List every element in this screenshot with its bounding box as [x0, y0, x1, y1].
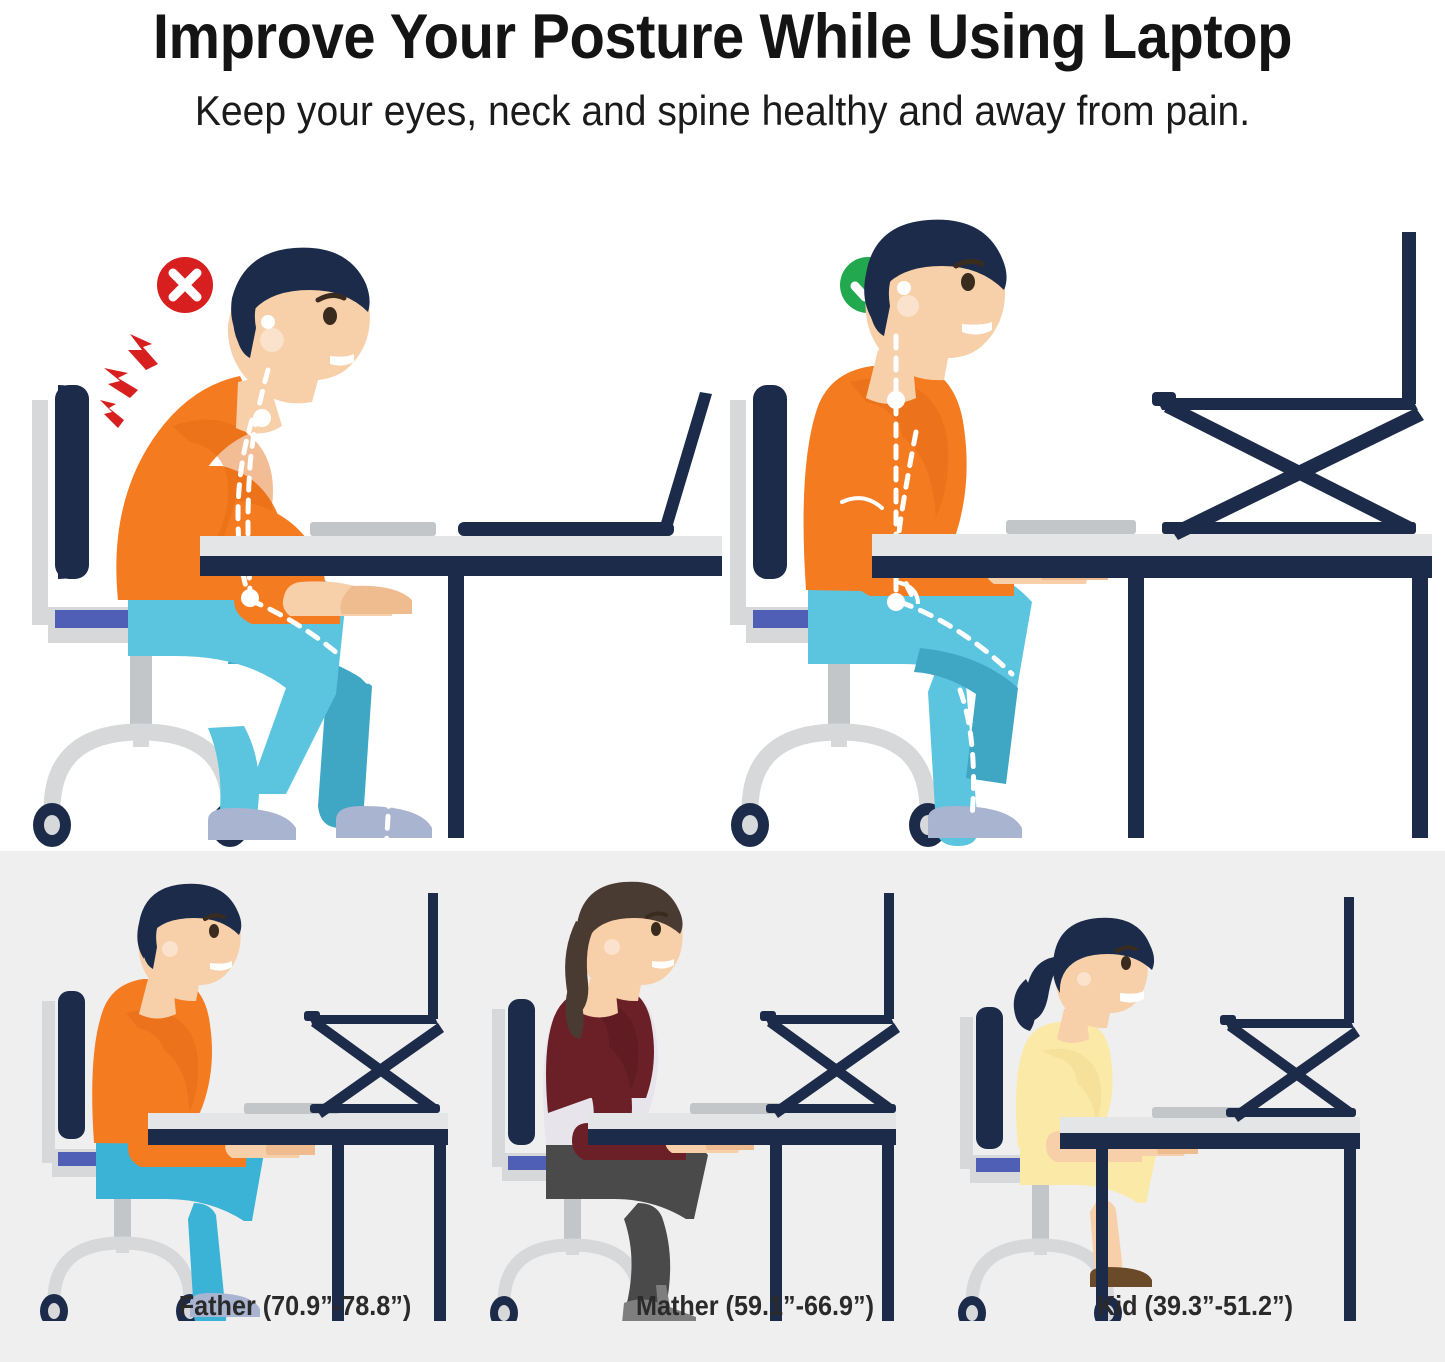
red-x-badge — [157, 257, 213, 313]
kid-illustration — [920, 851, 1380, 1321]
infographic-page: Improve Your Posture While Using Laptop … — [0, 0, 1445, 1362]
family-panel-kid — [920, 851, 1380, 1321]
laptop-on-stand — [1220, 897, 1360, 1122]
family-label-father: Father (70.9”-78.8”) — [84, 1286, 507, 1326]
keyboard — [1006, 520, 1136, 534]
laptop-flat — [458, 392, 712, 536]
family-label-kid: Kid (39.3”-51.2”) — [984, 1286, 1407, 1326]
header: Improve Your Posture While Using Laptop … — [0, 0, 1445, 160]
comparison-section — [0, 170, 1445, 851]
pain-bolt-icon — [100, 334, 158, 428]
mather-illustration — [470, 851, 925, 1321]
family-panel-mather — [470, 851, 925, 1321]
good-posture-scene — [700, 170, 1445, 851]
family-panel-father — [22, 851, 477, 1321]
page-subtitle: Keep your eyes, neck and spine healthy a… — [51, 88, 1395, 134]
bad-posture-scene — [0, 170, 722, 851]
person-mather — [543, 882, 754, 1321]
page-title: Improve Your Posture While Using Laptop — [58, 4, 1387, 70]
good-posture-illustration — [700, 170, 1445, 851]
father-illustration — [22, 851, 477, 1321]
keyboard — [310, 522, 436, 536]
laptop-on-stand — [1152, 232, 1424, 540]
laptop-on-stand — [304, 893, 444, 1118]
laptop-on-stand — [760, 893, 900, 1118]
bad-posture-illustration — [0, 170, 722, 851]
family-label-mather: Mather (59.1”-66.9”) — [544, 1286, 967, 1326]
person-father — [92, 884, 315, 1321]
